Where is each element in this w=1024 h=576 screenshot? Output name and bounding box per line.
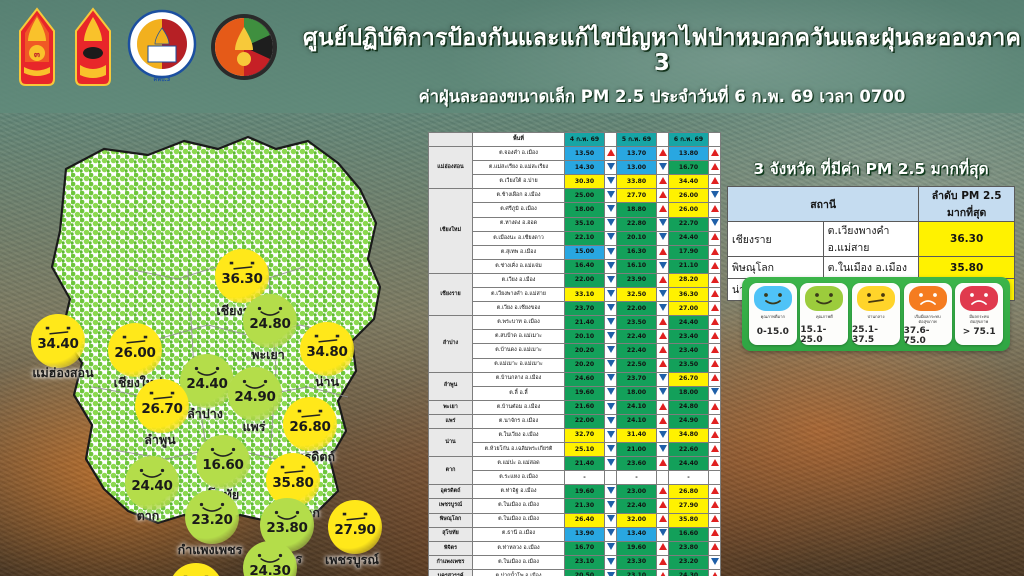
cell-value-2: 22.50 xyxy=(617,358,657,372)
cell-value-1: 21.60 xyxy=(565,400,605,414)
cell-trend-2 xyxy=(657,259,669,273)
cell-site: ต.ปากน้ำโพ อ.เมือง xyxy=(473,569,565,576)
cell-trend-1 xyxy=(605,302,617,316)
cell-trend-3 xyxy=(709,175,721,189)
cell-trend-2 xyxy=(657,527,669,541)
legend-face-icon xyxy=(754,286,792,311)
marker-face-icon xyxy=(180,365,234,379)
cell-province: เชียงใหม่ xyxy=(429,189,473,274)
cell-trend-1 xyxy=(605,189,617,203)
cell-trend-1 xyxy=(605,555,617,569)
cell-value-1: 33.10 xyxy=(565,288,605,302)
cell-value-1: 20.20 xyxy=(565,344,605,358)
cell-trend-1 xyxy=(605,541,617,555)
cell-trend-3 xyxy=(709,259,721,273)
trend-up-icon xyxy=(659,248,667,255)
trend-up-icon xyxy=(659,149,667,156)
trend-up-icon xyxy=(711,487,719,494)
trend-up-icon xyxy=(659,205,667,212)
cell-trend-1 xyxy=(605,443,617,457)
cell-trend-2 xyxy=(657,372,669,386)
cell-site: ต.ท่าหลวง อ.เมือง xyxy=(473,541,565,555)
th-trend-3 xyxy=(709,133,721,147)
cell-value-3: 26.70 xyxy=(669,372,709,386)
trend-down-icon xyxy=(659,431,667,438)
marker-value: 24.80 xyxy=(249,318,290,332)
cell-value-1: 16.40 xyxy=(565,259,605,273)
marker-face-icon xyxy=(108,334,162,348)
legend-range: 25.1-37.5 xyxy=(852,325,900,345)
th-date-3: 6 ก.พ. 69 xyxy=(669,133,709,147)
cell-value-1: 21.30 xyxy=(565,499,605,513)
cell-value-3: 23.20 xyxy=(669,555,709,569)
table-row: ลำพูนต.บ้านกลาง อ.เมือง24.6023.7026.70 xyxy=(429,372,721,386)
cell-trend-1 xyxy=(605,245,617,259)
cell-value-2: 27.70 xyxy=(617,189,657,203)
cell-province: พะเยา xyxy=(429,400,473,414)
legend-item: เริ่มมีผลกระทบต่อสุขภาพ37.6-75.0 xyxy=(904,283,952,345)
trend-up-icon xyxy=(711,233,719,240)
table-row: ต.เวียงใต้ อ.ปาย30.3033.8034.40 xyxy=(429,175,721,189)
table-row: พะเยาต.บ้านต๋อม อ.เมือง21.6024.1024.80 xyxy=(429,400,721,414)
table-row: พิจิตรต.ท่าหลวง อ.เมือง16.7019.6023.80 xyxy=(429,541,721,555)
trend-down-icon xyxy=(607,529,615,536)
cell-trend-2 xyxy=(657,273,669,287)
cell-site: ต.เวียงพางคำ อ.แม่สาย xyxy=(473,288,565,302)
table-row: นครสวรรค์ต.ปากน้ำโพ อ.เมือง20.5023.1024.… xyxy=(429,569,721,576)
th-trend-2 xyxy=(657,133,669,147)
cell-trend-3 xyxy=(709,400,721,414)
trend-down-icon xyxy=(607,332,615,339)
cell-province: แพร่ xyxy=(429,414,473,428)
trend-down-icon xyxy=(607,219,615,226)
trend-up-icon xyxy=(659,276,667,283)
cell-trend-2 xyxy=(657,541,669,555)
trend-up-icon xyxy=(659,543,667,550)
trend-up-icon xyxy=(711,529,719,536)
cell-trend-3 xyxy=(709,273,721,287)
map-marker-แพร่: 24.90 xyxy=(228,367,282,421)
cell-trend-2 xyxy=(657,231,669,245)
map-marker-เพชรบูรณ์: 27.90 xyxy=(328,500,382,554)
cell-province: อุตรดิตถ์ xyxy=(429,485,473,499)
cell-value-3: 16.60 xyxy=(669,527,709,541)
trend-up-icon xyxy=(659,177,667,184)
trend-up-icon xyxy=(711,304,719,311)
cell-value-1: 13.50 xyxy=(565,147,605,161)
cell-site: ต.สบป้าด อ.แม่เมาะ xyxy=(473,330,565,344)
cell-value-3: 17.90 xyxy=(669,245,709,259)
trend-up-icon xyxy=(711,431,719,438)
trend-up-icon xyxy=(711,248,719,255)
trend-down-icon xyxy=(607,543,615,550)
table-row: สุโขทัยต.ธานี อ.เมือง13.9013.4016.60 xyxy=(429,527,721,541)
fire-control-center-emblem-icon: ศฟป.3 xyxy=(126,6,198,88)
table-row: แพร่ต.นาจักร อ.เมือง22.0024.1024.90 xyxy=(429,414,721,428)
cell-value-3: 27.00 xyxy=(669,302,709,316)
cell-value-2: 32.50 xyxy=(617,288,657,302)
trend-up-icon xyxy=(607,149,615,156)
cell-trend-1 xyxy=(605,428,617,442)
marker-face-icon xyxy=(243,552,297,566)
trend-up-icon xyxy=(659,332,667,339)
cell-value-3: 24.80 xyxy=(669,400,709,414)
cell-value-3: 23.50 xyxy=(669,358,709,372)
map-province-label-เพชรบูรณ์: เพชรบูรณ์ xyxy=(325,550,379,570)
marker-face-icon xyxy=(196,446,250,460)
trend-down-icon xyxy=(659,219,667,226)
cell-value-3: 35.80 xyxy=(669,513,709,527)
cell-value-3: 16.70 xyxy=(669,161,709,175)
table-row: ต.เมืองนะ อ.เชียงดาว22.1020.1024.40 xyxy=(429,231,721,245)
cell-site: ต.ช่างเคิ่ง อ.แม่แจ่ม xyxy=(473,259,565,273)
trend-up-icon xyxy=(711,501,719,508)
legend-label: คุณภาพดีมาก xyxy=(761,314,785,325)
cell-trend-1 xyxy=(605,569,617,576)
trend-down-icon xyxy=(607,487,615,494)
cell-value-1: 20.10 xyxy=(565,330,605,344)
cell-trend-3 xyxy=(709,372,721,386)
cell-value-1: 21.40 xyxy=(565,316,605,330)
trend-down-icon xyxy=(607,205,615,212)
cell-trend-1 xyxy=(605,273,617,287)
cell-value-3: 13.80 xyxy=(669,147,709,161)
trend-down-icon xyxy=(659,262,667,269)
trend-up-icon xyxy=(659,403,667,410)
map-marker-ตาก: 24.40 xyxy=(125,456,179,510)
legend-face-icon xyxy=(805,286,843,311)
trend-up-icon xyxy=(659,346,667,353)
cell-province: ลำพูน xyxy=(429,372,473,400)
cell-value-3: - xyxy=(669,471,709,485)
cell-trend-1 xyxy=(605,203,617,217)
table-row: แม่ฮ่องสอนต.จองคำ อ.เมือง13.5013.7013.80 xyxy=(429,147,721,161)
cell-trend-1 xyxy=(605,386,617,400)
cell-trend-1 xyxy=(605,513,617,527)
legend-label: มีผลกระทบต่อสุขภาพ xyxy=(969,314,989,325)
table-row: ต.หางดง อ.ฮอด35.1022.8022.70 xyxy=(429,217,721,231)
cell-site: ต.แม่สะเรียง อ.แม่สะเรียง xyxy=(473,161,565,175)
cell-trend-2 xyxy=(657,288,669,302)
cell-value-2: 23.10 xyxy=(617,569,657,576)
cell-site: ต.บ้านกลาง อ.เมือง xyxy=(473,372,565,386)
cell-trend-2 xyxy=(657,161,669,175)
cell-trend-1 xyxy=(605,457,617,471)
map-marker-เชียงใหม่: 26.00 xyxy=(108,323,162,377)
cell-trend-2 xyxy=(657,189,669,203)
cell-value-2: 24.10 xyxy=(617,414,657,428)
marker-face-icon xyxy=(135,390,189,404)
cell-trend-3 xyxy=(709,555,721,569)
cell-trend-2 xyxy=(657,513,669,527)
trend-up-icon xyxy=(711,205,719,212)
cell-value-1: 20.50 xyxy=(565,569,605,576)
title-block: ศูนย์ปฏิบัติการป้องกันและแก้ไขปัญหาไฟป่า… xyxy=(300,4,1024,113)
table-row: น่านต.ในเวียง อ.เมือง32.7031.4034.80 xyxy=(429,428,721,442)
table-row: เพชรบูรณ์ต.ในเมือง อ.เมือง21.3022.4027.9… xyxy=(429,499,721,513)
map-marker-ลำพูน: 26.70 xyxy=(135,379,189,433)
table-row: ต.เวียง อ.เชียงของ23.7022.0027.00 xyxy=(429,302,721,316)
cell-site: ต.พระบาท อ.เมือง xyxy=(473,316,565,330)
trend-down-icon xyxy=(659,445,667,452)
cell-value-1: 23.70 xyxy=(565,302,605,316)
cell-province: พิษณุโลก xyxy=(429,513,473,527)
legend-item: คุณภาพดีมาก0-15.0 xyxy=(749,283,797,345)
cell-value-1: 18.00 xyxy=(565,203,605,217)
cell-value-1: 20.20 xyxy=(565,358,605,372)
table-row: ต.สบป้าด อ.แม่เมาะ20.1022.4023.40 xyxy=(429,330,721,344)
marker-value: 24.30 xyxy=(249,565,290,576)
cell-site: ต.หางดง อ.ฮอด xyxy=(473,217,565,231)
cell-trend-1 xyxy=(605,400,617,414)
trend-up-icon xyxy=(711,262,719,269)
svg-text:๓: ๓ xyxy=(34,50,40,60)
trend-down-icon xyxy=(607,163,615,170)
trend-up-icon xyxy=(711,149,719,156)
cell-province: ตาก xyxy=(429,457,473,485)
cell-trend-2 xyxy=(657,443,669,457)
page-subtitle: ค่าฝุ่นละอองขนาดเล็ก PM 2.5 ประจำวันที่ … xyxy=(300,84,1024,110)
map-province-label-น่าน: น่าน xyxy=(315,372,339,392)
marker-value: 34.80 xyxy=(306,346,347,360)
cell-trend-3 xyxy=(709,569,721,576)
cell-value-3: 26.00 xyxy=(669,189,709,203)
cell-value-1: 19.60 xyxy=(565,386,605,400)
top3-title: 3 จังหวัด ที่มีค่า PM 2.5 มากที่สุด xyxy=(727,156,1015,181)
marker-face-icon xyxy=(328,511,382,525)
cell-trend-3 xyxy=(709,471,721,485)
cell-trend-3 xyxy=(709,217,721,231)
trend-up-icon xyxy=(659,572,667,576)
cell-trend-3 xyxy=(709,443,721,457)
cell-province: พิจิตร xyxy=(429,541,473,555)
cell-trend-2 xyxy=(657,175,669,189)
trend-down-icon xyxy=(607,572,615,576)
trend-up-icon xyxy=(711,445,719,452)
cell-trend-1 xyxy=(605,372,617,386)
trend-down-icon xyxy=(659,304,667,311)
cell-value-3: 23.40 xyxy=(669,344,709,358)
map-province-label-กำแพงเพชร: กำแพงเพชร xyxy=(178,540,243,560)
table-row: ต.ช่างเคิ่ง อ.แม่แจ่ม16.4016.1021.10 xyxy=(429,259,721,273)
marker-face-icon xyxy=(185,501,239,515)
cell-value-3: 21.10 xyxy=(669,259,709,273)
trend-down-icon xyxy=(711,388,719,395)
cell-value-3: 24.40 xyxy=(669,316,709,330)
cell-province: เพชรบูรณ์ xyxy=(429,499,473,513)
map-province-label-ลำปาง: ลำปาง xyxy=(187,404,223,424)
cell-value-2: 18.00 xyxy=(617,386,657,400)
th-date-1: 4 ก.พ. 69 xyxy=(565,133,605,147)
table-row: ต.เวียงพางคำ อ.แม่สาย33.1032.5036.30 xyxy=(429,288,721,302)
top3-th-station: สถานี xyxy=(728,187,919,222)
cell-site: ต.ระแหง อ.เมือง xyxy=(473,471,565,485)
legend-range: 15.1-25.0 xyxy=(800,325,848,345)
cell-trend-1 xyxy=(605,414,617,428)
trend-down-icon xyxy=(607,290,615,297)
cell-trend-1 xyxy=(605,358,617,372)
th-date-2: 5 ก.พ. 69 xyxy=(617,133,657,147)
table-row: ต.แม่สะเรียง อ.แม่สะเรียง14.3013.0016.70 xyxy=(429,161,721,175)
cell-trend-2 xyxy=(657,386,669,400)
cell-site: ต.บ้านดง อ.แม่เมาะ xyxy=(473,344,565,358)
cell-trend-3 xyxy=(709,386,721,400)
map-province-label-ลำพูน: ลำพูน xyxy=(144,430,175,450)
table-row: ต.ระแหง อ.เมือง--- xyxy=(429,471,721,485)
trend-down-icon xyxy=(607,558,615,565)
marker-value: 26.00 xyxy=(114,347,155,361)
map-marker-สุโขทัย: 16.60 xyxy=(196,435,250,489)
cell-value-2: 23.90 xyxy=(617,273,657,287)
cell-value-1: 25.10 xyxy=(565,443,605,457)
cell-trend-1 xyxy=(605,259,617,273)
marker-value: 24.90 xyxy=(234,391,275,405)
cell-trend-3 xyxy=(709,457,721,471)
cell-value-2: 24.10 xyxy=(617,400,657,414)
table-row: ตากต.แม่ปะ อ.แม่สอด21.4023.6024.40 xyxy=(429,457,721,471)
trend-up-icon xyxy=(711,346,719,353)
trend-up-icon xyxy=(711,515,719,522)
table-row: ต.ห้วยโก๋น อ.เฉลิมพระเกียรติ25.1021.0022… xyxy=(429,443,721,457)
trend-down-icon xyxy=(607,431,615,438)
trend-down-icon xyxy=(607,403,615,410)
cell-trend-3 xyxy=(709,231,721,245)
top3-header-row: สถานี ลำดับ PM 2.5 มากที่สุด xyxy=(728,187,1015,222)
trend-down-icon xyxy=(607,248,615,255)
cell-value-3: 28.20 xyxy=(669,273,709,287)
cell-trend-3 xyxy=(709,302,721,316)
cell-site: ต.ในเมือง อ.เมือง xyxy=(473,513,565,527)
table-row: ต.แม่เมาะ อ.แม่เมาะ20.2022.5023.50 xyxy=(429,358,721,372)
legend-face-icon xyxy=(857,286,895,311)
cell-trend-3 xyxy=(709,485,721,499)
map-province-label-แพร่: แพร่ xyxy=(242,417,265,437)
cell-value-1: 21.40 xyxy=(565,457,605,471)
cell-value-2: 31.40 xyxy=(617,428,657,442)
cell-value-3: 24.30 xyxy=(669,569,709,576)
map-province-label-แม่ฮ่องสอน: แม่ฮ่องสอน xyxy=(32,363,93,383)
cell-site: ต.ในเวียง อ.เมือง xyxy=(473,428,565,442)
table-row: ต.สุเทพ อ.เมือง15.0016.3017.90 xyxy=(429,245,721,259)
cell-value-2: 22.40 xyxy=(617,330,657,344)
trend-down-icon xyxy=(659,163,667,170)
cell-value-1: 19.60 xyxy=(565,485,605,499)
map-province-label-พะเยา: พะเยา xyxy=(251,345,285,365)
legend-range: > 75.1 xyxy=(963,327,996,337)
marker-face-icon xyxy=(300,333,354,347)
trend-up-icon xyxy=(659,191,667,198)
marker-face-icon xyxy=(260,509,314,523)
cell-site: ต.เวียง อ.เมือง xyxy=(473,273,565,287)
cell-trend-1 xyxy=(605,344,617,358)
cell-site: ต.ในเมือง อ.เมือง xyxy=(473,499,565,513)
trend-down-icon xyxy=(711,558,719,565)
cell-site: ต.ห้วยโก๋น อ.เฉลิมพระเกียรติ xyxy=(473,443,565,457)
cell-value-3: 24.40 xyxy=(669,231,709,245)
marker-value: 23.20 xyxy=(191,514,232,528)
trend-down-icon xyxy=(607,388,615,395)
cell-value-2: 13.70 xyxy=(617,147,657,161)
cell-value-2: 16.10 xyxy=(617,259,657,273)
top3-th-value: ลำดับ PM 2.5 มากที่สุด xyxy=(919,187,1015,222)
cell-trend-1 xyxy=(605,471,617,485)
cell-value-2: 23.30 xyxy=(617,555,657,569)
trend-down-icon xyxy=(607,346,615,353)
cell-site: ต.สุเทพ อ.เมือง xyxy=(473,245,565,259)
marker-value: 16.60 xyxy=(202,459,243,473)
trend-up-icon xyxy=(711,318,719,325)
trend-down-icon xyxy=(659,529,667,536)
cell-value-3: 27.90 xyxy=(669,499,709,513)
cell-site: ต.ช้างเผือก อ.เมือง xyxy=(473,189,565,203)
cell-value-1: 22.00 xyxy=(565,273,605,287)
cell-value-2: 22.80 xyxy=(617,217,657,231)
cell-trend-1 xyxy=(605,499,617,513)
cell-value-2: 13.40 xyxy=(617,527,657,541)
cell-trend-3 xyxy=(709,330,721,344)
cell-value-3: 34.40 xyxy=(669,175,709,189)
trend-down-icon xyxy=(607,304,615,311)
royal-emblem-2-icon xyxy=(70,7,116,87)
cell-trend-3 xyxy=(709,203,721,217)
top3-province: พิษณุโลก xyxy=(728,257,824,279)
marker-face-icon xyxy=(243,305,297,319)
map-marker-อุทัยธานี: 31.00 xyxy=(169,563,223,576)
table-row: ต.ลี้ อ.ลี้19.6018.0018.00 xyxy=(429,386,721,400)
table-row: เชียงรายต.เวียง อ.เมือง22.0023.9028.20 xyxy=(429,273,721,287)
cell-trend-2 xyxy=(657,358,669,372)
cell-trend-2 xyxy=(657,555,669,569)
marker-value: 27.90 xyxy=(334,524,375,538)
trend-down-icon xyxy=(607,501,615,508)
cell-province: เชียงราย xyxy=(429,273,473,315)
map-marker-กำแพงเพชร: 23.20 xyxy=(185,490,239,544)
cell-value-3: 22.70 xyxy=(669,217,709,231)
cell-trend-2 xyxy=(657,428,669,442)
cell-value-1: 24.60 xyxy=(565,372,605,386)
cell-trend-2 xyxy=(657,147,669,161)
cell-trend-1 xyxy=(605,231,617,245)
table-row: ต.บ้านดง อ.แม่เมาะ20.2022.4023.40 xyxy=(429,344,721,358)
marker-value: 34.40 xyxy=(37,338,78,352)
pm-table-body: แม่ฮ่องสอนต.จองคำ อ.เมือง13.5013.7013.80… xyxy=(429,147,721,576)
marker-face-icon xyxy=(228,378,282,392)
cell-site: ต.แม่ปะ อ.แม่สอด xyxy=(473,457,565,471)
marker-face-icon xyxy=(31,325,85,339)
cell-province: นครสวรรค์ xyxy=(429,569,473,576)
cell-trend-3 xyxy=(709,499,721,513)
trend-down-icon xyxy=(607,276,615,283)
cell-trend-1 xyxy=(605,316,617,330)
trend-up-icon xyxy=(659,360,667,367)
cell-value-2: 21.00 xyxy=(617,443,657,457)
page-title: ศูนย์ปฏิบัติการป้องกันและแก้ไขปัญหาไฟป่า… xyxy=(300,26,1024,77)
cell-site: ต.เวียงใต้ อ.ปาย xyxy=(473,175,565,189)
cell-trend-1 xyxy=(605,175,617,189)
legend-range: 37.6-75.0 xyxy=(904,326,952,346)
trend-down-icon xyxy=(607,318,615,325)
top3-province: เชียงราย xyxy=(728,222,824,257)
cell-trend-2 xyxy=(657,302,669,316)
trend-up-icon xyxy=(711,276,719,283)
cell-value-2: 13.00 xyxy=(617,161,657,175)
cell-value-2: 32.00 xyxy=(617,513,657,527)
cell-trend-2 xyxy=(657,569,669,576)
legend-item: ปานกลาง25.1-37.5 xyxy=(852,283,900,345)
cell-value-3: 34.80 xyxy=(669,428,709,442)
trend-up-icon xyxy=(711,163,719,170)
cell-trend-2 xyxy=(657,400,669,414)
